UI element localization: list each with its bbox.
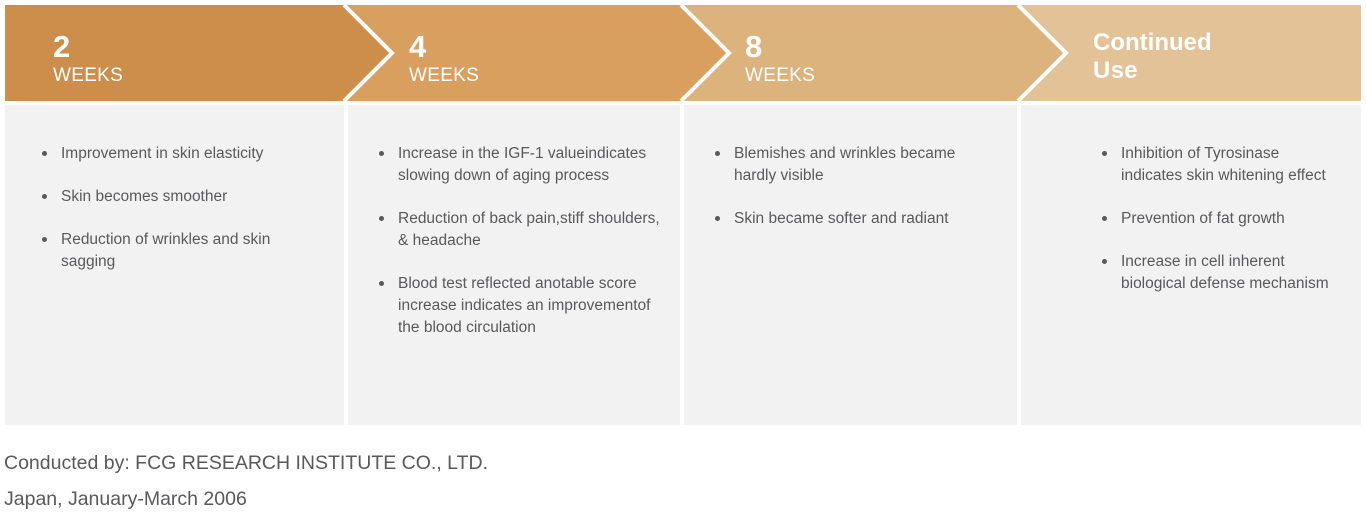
list-item: Skin becomes smoother [41,186,326,208]
list-item: Inhibition of Tyrosinase indicates skin … [1101,143,1341,187]
bullet-text: Skin becomes smoother [61,188,227,205]
bullet-dot-icon [1102,259,1107,264]
bullet-dot-icon [1102,151,1107,156]
bullet-text: Inhibition of Tyrosinase indicates skin … [1121,145,1326,184]
bullet-list-0: Improvement in skin elasticity Skin beco… [41,143,326,273]
footer-credit: Conducted by: FCG RESEARCH INSTITUTE CO.… [4,445,904,517]
bullet-dot-icon [379,216,384,221]
list-item: Prevention of fat growth [1101,208,1341,230]
chevron-stage-continued-use [1018,5,1361,101]
bullet-dot-icon [1102,216,1107,221]
bullet-text: Reduction of back pain,stiff shoulders, … [398,210,660,249]
bullet-text: Blemishes and wrinkles became hardly vis… [734,145,955,184]
bullet-dot-icon [379,151,384,156]
chevron-stage-8-weeks [681,5,1066,101]
panel-stage-0: Improvement in skin elasticity Skin beco… [5,105,344,425]
bullet-list-3: Inhibition of Tyrosinase indicates skin … [1101,143,1341,295]
results-timeline-infographic: 2 WEEKS 4 WEEKS 8 WEEKS Continued Use Im… [0,0,1366,516]
footer-line-1: Conducted by: FCG RESEARCH INSTITUTE CO.… [4,445,904,481]
bullet-text: Increase in the IGF-1 valueindicates slo… [398,145,646,184]
list-item: Blemishes and wrinkles became hardly vis… [714,143,997,187]
list-item: Increase in cell inherent biological def… [1101,251,1341,295]
timeline-panels-row: Improvement in skin elasticity Skin beco… [5,105,1361,425]
panel-stage-3: Inhibition of Tyrosinase indicates skin … [1017,105,1361,425]
panel-stage-2: Blemishes and wrinkles became hardly vis… [680,105,1017,425]
bullet-dot-icon [715,151,720,156]
chevron-band-svg [0,5,1366,101]
bullet-text: Increase in cell inherent biological def… [1121,253,1329,292]
bullet-dot-icon [42,151,47,156]
bullet-text: Improvement in skin elasticity [61,145,263,162]
bullet-list-2: Blemishes and wrinkles became hardly vis… [714,143,997,230]
panel-stage-1: Increase in the IGF-1 valueindicates slo… [344,105,680,425]
bullet-dot-icon [715,216,720,221]
list-item: Increase in the IGF-1 valueindicates slo… [378,143,660,187]
bullet-text: Skin became softer and radiant [734,210,949,227]
bullet-dot-icon [42,237,47,242]
bullet-text: Reduction of wrinkles and skin sagging [61,231,270,270]
chevron-stage-4-weeks [344,5,729,101]
list-item: Skin became softer and radiant [714,208,997,230]
footer-line-2: Japan, January-March 2006 [4,481,904,517]
chevron-stage-2-weeks [5,5,392,101]
bullet-list-1: Increase in the IGF-1 valueindicates slo… [378,143,660,339]
bullet-dot-icon [42,194,47,199]
list-item: Reduction of back pain,stiff shoulders, … [378,208,660,252]
bullet-text: Prevention of fat growth [1121,210,1285,227]
list-item: Blood test reflected anotable score incr… [378,273,660,339]
list-item: Reduction of wrinkles and skin sagging [41,229,326,273]
bullet-text: Blood test reflected anotable score incr… [398,275,650,336]
timeline-header-row: 2 WEEKS 4 WEEKS 8 WEEKS Continued Use [0,5,1366,101]
list-item: Improvement in skin elasticity [41,143,326,165]
bullet-dot-icon [379,281,384,286]
